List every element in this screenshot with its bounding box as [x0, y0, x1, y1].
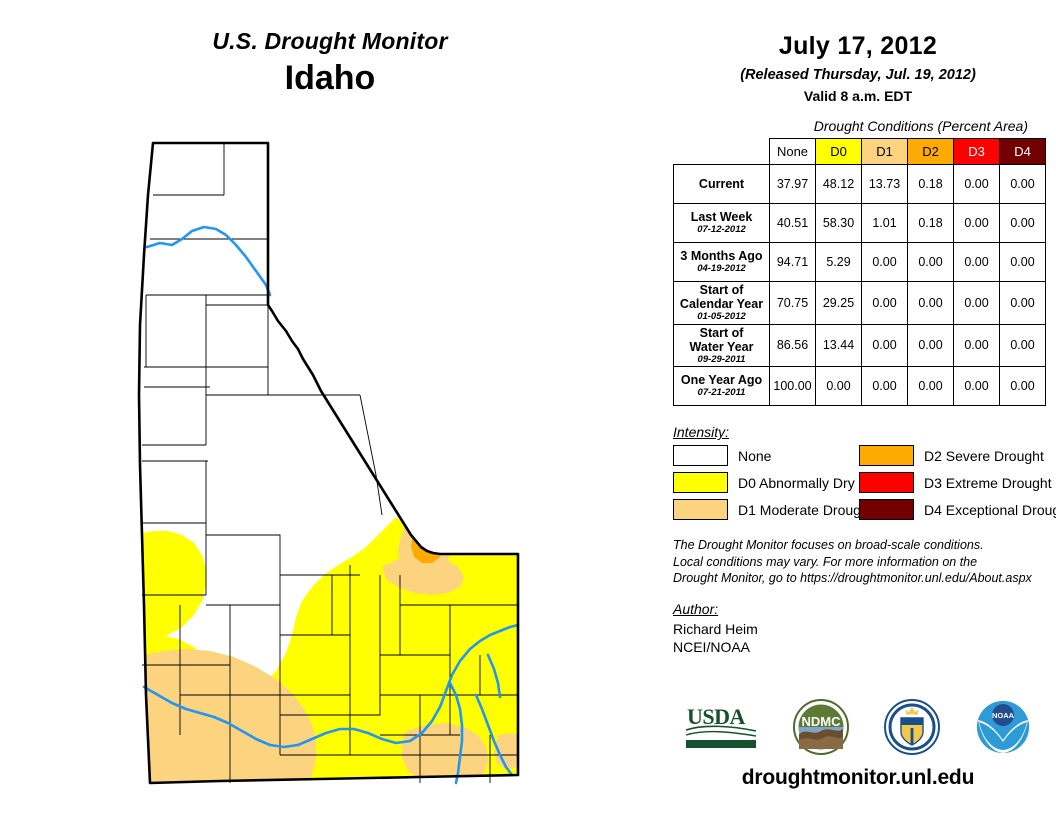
- row-label: Current: [674, 165, 770, 204]
- table-caption: Drought Conditions (Percent Area): [660, 118, 1028, 134]
- row-label-date: 01-05-2012: [676, 312, 767, 323]
- map-supertitle: U.S. Drought Monitor: [0, 28, 660, 55]
- cell-d1: 1.01: [862, 204, 908, 243]
- cell-d2: 0.00: [908, 367, 954, 406]
- disclaimer-note: The Drought Monitor focuses on broad-sca…: [673, 537, 1056, 587]
- map-title-block: U.S. Drought Monitor Idaho: [0, 28, 660, 98]
- legend-swatch: [859, 472, 914, 493]
- legend-swatch: [673, 499, 728, 520]
- legend-label: D4 Exceptional Drought: [924, 502, 1056, 518]
- cell-d3: 0.00: [954, 243, 1000, 282]
- legend-label: D2 Severe Drought: [924, 448, 1044, 464]
- table-header-d3: D3: [954, 139, 1000, 165]
- cell-d1: 0.00: [862, 324, 908, 367]
- cell-d0: 13.44: [816, 324, 862, 367]
- report-released: (Released Thursday, Jul. 19, 2012): [660, 67, 1056, 83]
- cell-none: 100.00: [770, 367, 816, 406]
- cell-d4: 0.00: [1000, 243, 1046, 282]
- table-header-row: NoneD0D1D2D3D4: [674, 139, 1046, 165]
- idaho-drought-map[interactable]: [120, 135, 540, 805]
- cell-d2: 0.00: [908, 243, 954, 282]
- row-label: Start ofWater Year09-29-2011: [674, 324, 770, 367]
- svg-text:NOAA: NOAA: [992, 711, 1015, 720]
- legend-label: D0 Abnormally Dry: [738, 475, 855, 491]
- author-affiliation: NCEI/NOAA: [673, 638, 1056, 656]
- author-block: Author: Richard Heim NCEI/NOAA: [673, 601, 1056, 656]
- cell-d4: 0.00: [1000, 204, 1046, 243]
- cell-d0: 48.12: [816, 165, 862, 204]
- cell-d3: 0.00: [954, 324, 1000, 367]
- row-label: One Year Ago07-21-2011: [674, 367, 770, 406]
- map-panel: U.S. Drought Monitor Idaho: [0, 0, 660, 816]
- cell-d2: 0.18: [908, 165, 954, 204]
- cell-d0: 58.30: [816, 204, 862, 243]
- legend-swatch: [859, 445, 914, 466]
- cell-none: 37.97: [770, 165, 816, 204]
- table-header-d4: D4: [1000, 139, 1046, 165]
- row-label: Last Week07-12-2012: [674, 204, 770, 243]
- usda-logo: USDA: [684, 702, 758, 752]
- legend-item: D2 Severe Drought: [859, 445, 1045, 466]
- legend-label: None: [738, 448, 771, 464]
- table-header-d0: D0: [816, 139, 862, 165]
- svg-text:USDA: USDA: [687, 704, 746, 729]
- row-label-date: 09-29-2011: [676, 355, 767, 366]
- row-label: 3 Months Ago04-19-2012: [674, 243, 770, 282]
- row-label-date: 04-19-2012: [676, 264, 767, 275]
- legend-item: D4 Exceptional Drought: [859, 499, 1045, 520]
- table-row: Start ofCalendar Year01-05-201270.7529.2…: [674, 282, 1046, 325]
- drought-conditions-table: NoneD0D1D2D3D4Current37.9748.1213.730.18…: [673, 138, 1046, 406]
- table-row: Start ofWater Year09-29-201186.5613.440.…: [674, 324, 1046, 367]
- noaa-logo: NOAA: [974, 698, 1032, 756]
- note-line-1: The Drought Monitor focuses on broad-sca…: [673, 537, 1056, 554]
- legend-item: D3 Extreme Drought: [859, 472, 1045, 493]
- table-row: Current37.9748.1213.730.180.000.00: [674, 165, 1046, 204]
- cell-d4: 0.00: [1000, 165, 1046, 204]
- cell-none: 70.75: [770, 282, 816, 325]
- region-d2-east-patch: [411, 525, 442, 563]
- note-line-2: Local conditions may vary. For more info…: [673, 554, 1056, 571]
- table-header-none: None: [770, 139, 816, 165]
- legend-label: D1 Moderate Drought: [738, 502, 873, 518]
- cell-none: 86.56: [770, 324, 816, 367]
- svg-text:NDMC: NDMC: [801, 714, 841, 729]
- intensity-legend: Intensity: NoneD2 Severe DroughtD0 Abnor…: [673, 424, 1056, 520]
- cell-d3: 0.00: [954, 367, 1000, 406]
- cell-d1: 0.00: [862, 282, 908, 325]
- report-valid: Valid 8 a.m. EDT: [660, 88, 1056, 104]
- row-label-date: 07-12-2012: [676, 225, 767, 236]
- commerce-seal-logo: [883, 698, 941, 756]
- legend-item: D1 Moderate Drought: [673, 499, 859, 520]
- table-header-d1: D1: [862, 139, 908, 165]
- author-name: Richard Heim: [673, 620, 1056, 638]
- cell-d1: 0.00: [862, 367, 908, 406]
- cell-d2: 0.00: [908, 282, 954, 325]
- table-header-d2: D2: [908, 139, 954, 165]
- cell-d2: 0.18: [908, 204, 954, 243]
- legend-title: Intensity:: [673, 424, 1056, 440]
- cell-d3: 0.00: [954, 204, 1000, 243]
- note-line-3: Drought Monitor, go to https://droughtmo…: [673, 570, 1056, 587]
- report-date: July 17, 2012: [660, 32, 1056, 61]
- cell-d4: 0.00: [1000, 367, 1046, 406]
- cell-d0: 5.29: [816, 243, 862, 282]
- table-header-corner: [674, 139, 770, 165]
- table-row: One Year Ago07-21-2011100.000.000.000.00…: [674, 367, 1046, 406]
- cell-d1: 0.00: [862, 243, 908, 282]
- info-panel: July 17, 2012 (Released Thursday, Jul. 1…: [660, 0, 1056, 816]
- cell-d0: 29.25: [816, 282, 862, 325]
- map-state-name: Idaho: [0, 59, 660, 98]
- drought-monitor-page: U.S. Drought Monitor Idaho: [0, 0, 1056, 816]
- report-header: July 17, 2012 (Released Thursday, Jul. 1…: [660, 0, 1056, 104]
- website-url[interactable]: droughtmonitor.unl.edu: [660, 766, 1056, 790]
- legend-swatch: [859, 499, 914, 520]
- table-row: 3 Months Ago04-19-201294.715.290.000.000…: [674, 243, 1046, 282]
- cell-none: 40.51: [770, 204, 816, 243]
- cell-d3: 0.00: [954, 165, 1000, 204]
- table-row: Last Week07-12-201240.5158.301.010.180.0…: [674, 204, 1046, 243]
- cell-d1: 13.73: [862, 165, 908, 204]
- map-drought-layers: [120, 135, 540, 805]
- cell-d2: 0.00: [908, 324, 954, 367]
- legend-swatch: [673, 472, 728, 493]
- legend-label: D3 Extreme Drought: [924, 475, 1052, 491]
- cell-d4: 0.00: [1000, 324, 1046, 367]
- legend-item: None: [673, 445, 859, 466]
- logo-row: USDA NDMC: [660, 692, 1056, 762]
- cell-d3: 0.00: [954, 282, 1000, 325]
- cell-none: 94.71: [770, 243, 816, 282]
- author-title: Author:: [673, 601, 1056, 617]
- row-label-date: 07-21-2011: [676, 388, 767, 399]
- legend-item: D0 Abnormally Dry: [673, 472, 859, 493]
- row-label: Start ofCalendar Year01-05-2012: [674, 282, 770, 325]
- ndmc-logo: NDMC: [791, 698, 851, 756]
- cell-d4: 0.00: [1000, 282, 1046, 325]
- cell-d0: 0.00: [816, 367, 862, 406]
- legend-swatch: [673, 445, 728, 466]
